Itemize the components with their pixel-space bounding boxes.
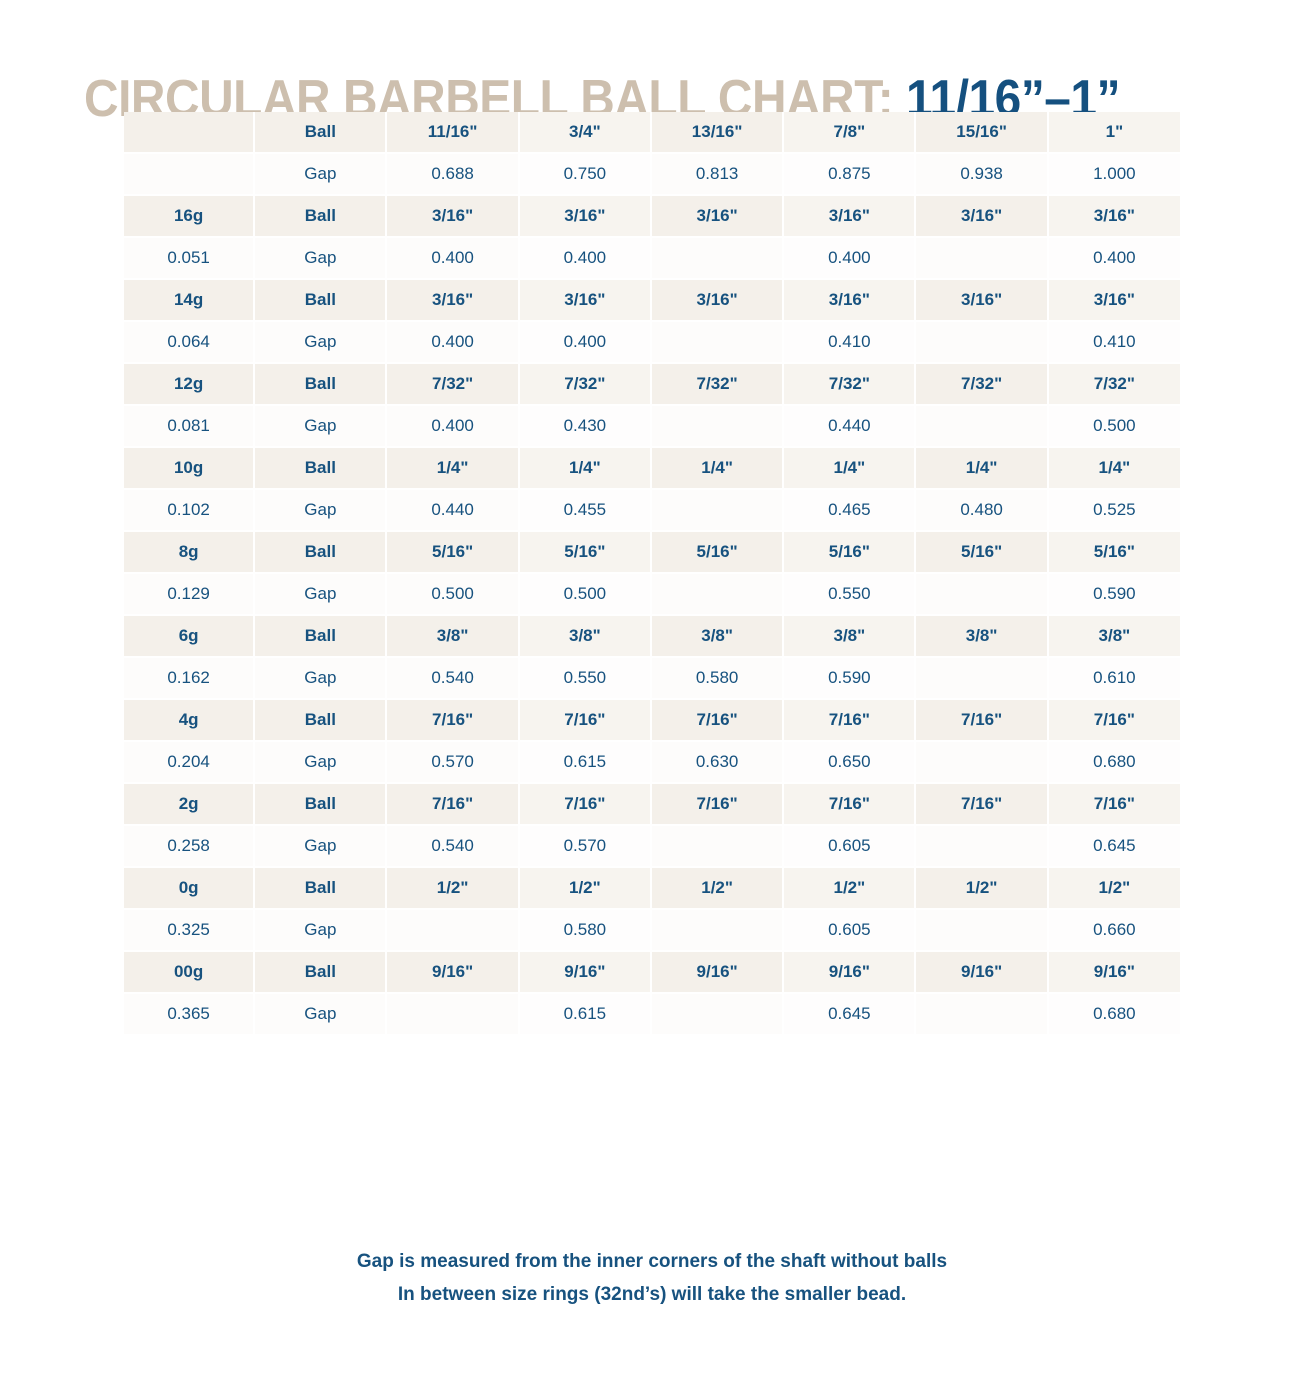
cell-value: 1/2" xyxy=(915,867,1047,909)
cell-value: 0.550 xyxy=(783,573,915,615)
cell-value: 5/16" xyxy=(783,531,915,573)
cell-value: 3/16" xyxy=(651,279,783,321)
cell-value: 1/4" xyxy=(386,447,518,489)
cell-kind: Ball xyxy=(254,615,386,657)
table-row: 16gBall3/16"3/16"3/16"3/16"3/16"3/16" xyxy=(124,195,1180,237)
cell-kind: Ball xyxy=(254,279,386,321)
cell-value: 0.400 xyxy=(386,405,518,447)
ball-chart-table: Ball11/16"3/4"13/16"7/8"15/16"1"Gap0.688… xyxy=(124,112,1180,1034)
table-row: 0.365Gap0.6150.6450.680 xyxy=(124,993,1180,1034)
cell-gauge: 0.162 xyxy=(124,657,254,699)
cell-value: 0.500 xyxy=(1048,405,1180,447)
table-row: 6gBall3/8"3/8"3/8"3/8"3/8"3/8" xyxy=(124,615,1180,657)
cell-kind: Gap xyxy=(254,321,386,363)
cell-value: 5/16" xyxy=(915,531,1047,573)
cell-gauge: 16g xyxy=(124,195,254,237)
cell-gauge: 4g xyxy=(124,699,254,741)
cell-value: 1.000 xyxy=(1048,153,1180,195)
table-row: 10gBall1/4"1/4"1/4"1/4"1/4"1/4" xyxy=(124,447,1180,489)
cell-value: 0.500 xyxy=(519,573,651,615)
cell-value: 7/32" xyxy=(519,363,651,405)
cell-value: 0.410 xyxy=(1048,321,1180,363)
cell-value: 0.590 xyxy=(783,657,915,699)
cell-value: 0.540 xyxy=(386,657,518,699)
cell-value xyxy=(915,237,1047,279)
table-row: 0.325Gap0.5800.6050.660 xyxy=(124,909,1180,951)
cell-value: 5/16" xyxy=(1048,531,1180,573)
cell-value: 3/4" xyxy=(519,112,651,153)
cell-value: 9/16" xyxy=(1048,951,1180,993)
cell-value: 5/16" xyxy=(651,531,783,573)
cell-value: 1/2" xyxy=(1048,867,1180,909)
cell-value: 7/16" xyxy=(651,699,783,741)
cell-value: 0.580 xyxy=(651,657,783,699)
cell-value: 0.580 xyxy=(519,909,651,951)
cell-value: 1/2" xyxy=(651,867,783,909)
cell-value xyxy=(915,741,1047,783)
cell-value: 0.410 xyxy=(783,321,915,363)
cell-gauge: 0.081 xyxy=(124,405,254,447)
table-row: 0.051Gap0.4000.4000.4000.400 xyxy=(124,237,1180,279)
cell-value: 0.875 xyxy=(783,153,915,195)
cell-value: 7/16" xyxy=(386,783,518,825)
cell-value: 13/16" xyxy=(651,112,783,153)
cell-value: 0.570 xyxy=(386,741,518,783)
cell-value: 1/2" xyxy=(783,867,915,909)
cell-value: 3/8" xyxy=(386,615,518,657)
cell-value: 0.500 xyxy=(386,573,518,615)
cell-value xyxy=(915,657,1047,699)
cell-value: 0.400 xyxy=(519,237,651,279)
cell-value: 0.430 xyxy=(519,405,651,447)
cell-value: 0.615 xyxy=(519,741,651,783)
cell-value: 5/16" xyxy=(519,531,651,573)
cell-value xyxy=(915,573,1047,615)
cell-value: 0.680 xyxy=(1048,993,1180,1034)
cell-value: 7/32" xyxy=(651,363,783,405)
cell-value: 3/16" xyxy=(915,195,1047,237)
cell-value xyxy=(651,405,783,447)
chart-footnotes: Gap is measured from the inner corners o… xyxy=(0,1245,1304,1311)
cell-gauge: 0g xyxy=(124,867,254,909)
cell-value: 1/4" xyxy=(783,447,915,489)
cell-value xyxy=(651,825,783,867)
cell-value: 1/2" xyxy=(519,867,651,909)
cell-value xyxy=(915,321,1047,363)
cell-value: 9/16" xyxy=(519,951,651,993)
cell-kind: Ball xyxy=(254,447,386,489)
cell-kind: Gap xyxy=(254,405,386,447)
cell-value: 0.650 xyxy=(783,741,915,783)
cell-gauge: 2g xyxy=(124,783,254,825)
cell-value: 7/32" xyxy=(783,363,915,405)
cell-value xyxy=(651,321,783,363)
cell-gauge: 0.129 xyxy=(124,573,254,615)
cell-value: 0.590 xyxy=(1048,573,1180,615)
cell-value: 0.440 xyxy=(386,489,518,531)
cell-kind: Gap xyxy=(254,153,386,195)
cell-value: 7/32" xyxy=(915,363,1047,405)
cell-value: 3/16" xyxy=(519,195,651,237)
cell-value xyxy=(651,909,783,951)
cell-value: 9/16" xyxy=(915,951,1047,993)
cell-value: 7/16" xyxy=(519,783,651,825)
cell-gauge: 0.365 xyxy=(124,993,254,1034)
cell-value: 3/16" xyxy=(651,195,783,237)
table-row: Ball11/16"3/4"13/16"7/8"15/16"1" xyxy=(124,112,1180,153)
cell-gauge: 0.258 xyxy=(124,825,254,867)
cell-gauge: 6g xyxy=(124,615,254,657)
cell-kind: Ball xyxy=(254,531,386,573)
footnote-line-2: In between size rings (32nd’s) will take… xyxy=(0,1278,1304,1311)
cell-value: 3/8" xyxy=(783,615,915,657)
cell-value: 0.688 xyxy=(386,153,518,195)
cell-gauge: 0.051 xyxy=(124,237,254,279)
cell-value: 0.630 xyxy=(651,741,783,783)
cell-value: 0.605 xyxy=(783,825,915,867)
cell-value: 3/16" xyxy=(1048,195,1180,237)
cell-value: 0.400 xyxy=(783,237,915,279)
cell-kind: Ball xyxy=(254,867,386,909)
cell-kind: Ball xyxy=(254,699,386,741)
cell-value: 0.660 xyxy=(1048,909,1180,951)
cell-value xyxy=(386,909,518,951)
cell-gauge: 12g xyxy=(124,363,254,405)
cell-kind: Gap xyxy=(254,741,386,783)
cell-value: 0.615 xyxy=(519,993,651,1034)
cell-value: 7/16" xyxy=(519,699,651,741)
cell-value: 3/16" xyxy=(783,279,915,321)
cell-value: 1/4" xyxy=(915,447,1047,489)
cell-value xyxy=(915,405,1047,447)
cell-value xyxy=(915,993,1047,1034)
cell-value: 0.750 xyxy=(519,153,651,195)
cell-kind: Gap xyxy=(254,489,386,531)
cell-value xyxy=(915,825,1047,867)
cell-value: 1/4" xyxy=(1048,447,1180,489)
table-row: 0.162Gap0.5400.5500.5800.5900.610 xyxy=(124,657,1180,699)
cell-value: 0.465 xyxy=(783,489,915,531)
cell-value xyxy=(915,909,1047,951)
cell-value: 0.680 xyxy=(1048,741,1180,783)
cell-value: 7/16" xyxy=(915,699,1047,741)
cell-value: 3/8" xyxy=(651,615,783,657)
cell-value: 0.645 xyxy=(783,993,915,1034)
footnote-line-1: Gap is measured from the inner corners o… xyxy=(0,1245,1304,1278)
table-row: 0.258Gap0.5400.5700.6050.645 xyxy=(124,825,1180,867)
ball-chart-table-wrapper: Ball11/16"3/4"13/16"7/8"15/16"1"Gap0.688… xyxy=(124,112,1180,1034)
cell-value: 3/16" xyxy=(783,195,915,237)
table-row: 2gBall7/16"7/16"7/16"7/16"7/16"7/16" xyxy=(124,783,1180,825)
cell-value: 3/8" xyxy=(1048,615,1180,657)
cell-gauge: 0.204 xyxy=(124,741,254,783)
table-row: 0.204Gap0.5700.6150.6300.6500.680 xyxy=(124,741,1180,783)
cell-gauge: 00g xyxy=(124,951,254,993)
cell-value: 9/16" xyxy=(386,951,518,993)
cell-value: 7/16" xyxy=(783,699,915,741)
table-row: 12gBall7/32"7/32"7/32"7/32"7/32"7/32" xyxy=(124,363,1180,405)
table-row: 00gBall9/16"9/16"9/16"9/16"9/16"9/16" xyxy=(124,951,1180,993)
cell-value: 9/16" xyxy=(651,951,783,993)
cell-gauge: 14g xyxy=(124,279,254,321)
cell-value xyxy=(651,237,783,279)
cell-value: 7/16" xyxy=(1048,699,1180,741)
cell-value: 0.455 xyxy=(519,489,651,531)
cell-value: 0.525 xyxy=(1048,489,1180,531)
cell-gauge xyxy=(124,112,254,153)
table-row: 0.129Gap0.5000.5000.5500.590 xyxy=(124,573,1180,615)
cell-value: 0.813 xyxy=(651,153,783,195)
cell-value: 0.400 xyxy=(386,237,518,279)
cell-value: 0.645 xyxy=(1048,825,1180,867)
cell-gauge xyxy=(124,153,254,195)
cell-value xyxy=(651,993,783,1034)
cell-value: 0.440 xyxy=(783,405,915,447)
cell-value: 7/16" xyxy=(783,783,915,825)
cell-value: 7/8" xyxy=(783,112,915,153)
cell-kind: Ball xyxy=(254,783,386,825)
cell-value: 7/16" xyxy=(651,783,783,825)
table-row: 0.102Gap0.4400.4550.4650.4800.525 xyxy=(124,489,1180,531)
cell-value: 3/8" xyxy=(519,615,651,657)
cell-kind: Gap xyxy=(254,657,386,699)
cell-value: 1/4" xyxy=(519,447,651,489)
table-row: 0.081Gap0.4000.4300.4400.500 xyxy=(124,405,1180,447)
ball-chart-page: CIRCULAR BARBELL BALL CHART: 11/16”–1” B… xyxy=(0,0,1304,1375)
table-row: 0gBall1/2"1/2"1/2"1/2"1/2"1/2" xyxy=(124,867,1180,909)
cell-value: 0.570 xyxy=(519,825,651,867)
table-row: Gap0.6880.7500.8130.8750.9381.000 xyxy=(124,153,1180,195)
cell-value: 0.540 xyxy=(386,825,518,867)
cell-kind: Gap xyxy=(254,237,386,279)
cell-value: 0.610 xyxy=(1048,657,1180,699)
cell-gauge: 10g xyxy=(124,447,254,489)
cell-value: 3/16" xyxy=(915,279,1047,321)
cell-kind: Ball xyxy=(254,112,386,153)
table-row: 8gBall5/16"5/16"5/16"5/16"5/16"5/16" xyxy=(124,531,1180,573)
cell-value: 11/16" xyxy=(386,112,518,153)
cell-kind: Gap xyxy=(254,909,386,951)
cell-gauge: 0.325 xyxy=(124,909,254,951)
cell-value: 7/16" xyxy=(915,783,1047,825)
cell-value: 7/16" xyxy=(386,699,518,741)
table-row: 4gBall7/16"7/16"7/16"7/16"7/16"7/16" xyxy=(124,699,1180,741)
cell-value: 3/16" xyxy=(386,279,518,321)
cell-value: 7/16" xyxy=(1048,783,1180,825)
cell-value xyxy=(651,489,783,531)
cell-kind: Ball xyxy=(254,951,386,993)
cell-kind: Gap xyxy=(254,573,386,615)
cell-gauge: 0.102 xyxy=(124,489,254,531)
cell-value: 3/16" xyxy=(519,279,651,321)
cell-value: 7/32" xyxy=(386,363,518,405)
cell-kind: Ball xyxy=(254,195,386,237)
cell-value: 0.605 xyxy=(783,909,915,951)
cell-value: 0.938 xyxy=(915,153,1047,195)
cell-value: 3/16" xyxy=(1048,279,1180,321)
cell-value: 3/16" xyxy=(386,195,518,237)
cell-value: 15/16" xyxy=(915,112,1047,153)
cell-value: 0.400 xyxy=(1048,237,1180,279)
cell-value: 1/4" xyxy=(651,447,783,489)
cell-kind: Gap xyxy=(254,825,386,867)
table-row: 14gBall3/16"3/16"3/16"3/16"3/16"3/16" xyxy=(124,279,1180,321)
cell-gauge: 0.064 xyxy=(124,321,254,363)
cell-kind: Gap xyxy=(254,993,386,1034)
cell-value: 3/8" xyxy=(915,615,1047,657)
cell-value: 1" xyxy=(1048,112,1180,153)
cell-value: 5/16" xyxy=(386,531,518,573)
cell-kind: Ball xyxy=(254,363,386,405)
cell-value: 7/32" xyxy=(1048,363,1180,405)
cell-value: 0.400 xyxy=(519,321,651,363)
cell-value xyxy=(651,573,783,615)
cell-value: 0.400 xyxy=(386,321,518,363)
cell-value: 0.480 xyxy=(915,489,1047,531)
cell-value: 9/16" xyxy=(783,951,915,993)
cell-value xyxy=(386,993,518,1034)
cell-gauge: 8g xyxy=(124,531,254,573)
cell-value: 0.550 xyxy=(519,657,651,699)
cell-value: 1/2" xyxy=(386,867,518,909)
table-row: 0.064Gap0.4000.4000.4100.410 xyxy=(124,321,1180,363)
